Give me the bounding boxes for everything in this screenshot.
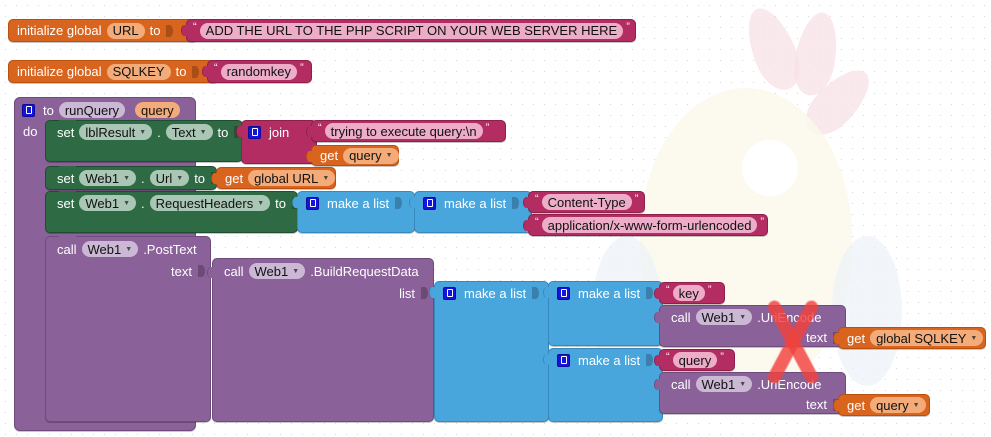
chevron-down-icon: ▼ [386,152,393,159]
key-string-field[interactable]: key [673,285,705,301]
left-plug [543,287,550,298]
text-socket-label: text [168,265,195,278]
global-url-name-field[interactable]: URL [107,23,145,39]
method-name: .PostText [140,243,199,256]
chevron-down-icon: ▼ [123,200,130,207]
initialize-global-url-block[interactable]: initialize global URL to [8,19,198,42]
set-keyword: set [54,197,77,210]
close-quote-icon: ” [625,22,631,33]
get-global-url-block[interactable]: get global URL ▼ [216,167,336,189]
variable-dropdown-query[interactable]: query ▼ [343,148,398,164]
item-socket [532,287,539,299]
close-quote-icon: ” [634,194,640,205]
set-keyword: set [54,172,77,185]
procedure-parameter-field[interactable]: query [135,102,180,118]
property-dropdown-url[interactable]: Url ▼ [150,170,190,186]
left-plug [409,197,416,208]
chevron-down-icon: ▼ [257,200,264,207]
mutator-icon[interactable] [248,126,261,139]
component-dropdown-web1[interactable]: Web1 ▼ [79,195,136,211]
left-plug [202,66,209,77]
get-keyword: get [844,332,868,345]
mutator-icon[interactable] [443,287,456,300]
chevron-down-icon: ▼ [739,314,746,321]
call-web1-posttext-block[interactable]: call Web1 ▼ .PostText text [45,236,211,422]
left-plug [654,355,661,366]
dot-separator: . [138,172,148,185]
left-plug [429,287,436,298]
text-socket-label: text [803,331,830,344]
left-plug [833,400,840,411]
open-quote-icon: “ [213,63,219,74]
mutator-icon[interactable] [557,354,570,367]
to-keyword: to [173,65,190,78]
left-plug [654,312,661,323]
to-keyword: to [272,197,289,210]
left-plug [654,288,661,299]
get-keyword: get [844,399,868,412]
chevron-down-icon: ▼ [176,175,183,182]
set-web1-requestheaders-block[interactable]: set Web1 ▼ . RequestHeaders ▼ to [45,191,298,233]
mutator-icon[interactable] [22,104,35,117]
close-quote-icon: ” [485,123,491,134]
call-keyword: call [54,243,80,256]
make-a-list-label: make a list [441,197,509,210]
make-a-list-label: make a list [461,287,529,300]
make-a-list-label: make a list [575,287,643,300]
call-keyword: call [668,378,694,391]
watermark-petal-1 [737,1,808,96]
do-label: do [23,125,37,138]
variable-dropdown-query[interactable]: query ▼ [870,397,925,413]
component-dropdown-lblresult[interactable]: lblResult ▼ [79,124,152,140]
open-quote-icon: “ [534,217,540,228]
set-web1-url-block[interactable]: set Web1 ▼ . Url ▼ to [45,166,217,190]
watermark-petal-2 [789,9,843,99]
call-web1-uriencode-block-2[interactable]: call Web1 ▼ .UriEncode text [659,372,846,414]
left-plug [211,173,218,184]
left-plug [207,267,214,278]
call-web1-uriencode-block-1[interactable]: call Web1 ▼ .UriEncode text [659,305,846,347]
mutator-icon[interactable] [306,197,319,210]
chevron-down-icon: ▼ [123,175,130,182]
make-a-list-pair-1[interactable]: make a list [548,281,663,346]
open-quote-icon: “ [665,285,671,296]
watermark-bee-eye [742,140,798,196]
method-name: .UriEncode [754,378,824,391]
set-lblresult-text-block[interactable]: set lblResult ▼ . Text ▼ to [45,120,243,162]
value-socket [166,25,173,37]
close-quote-icon: ” [707,285,713,296]
url-string-field[interactable]: ADD THE URL TO THE PHP SCRIPT ON YOUR WE… [200,23,624,39]
component-dropdown-web1[interactable]: Web1 ▼ [249,263,306,279]
join-arg1-text-block[interactable]: “ trying to execute query:\n ” [311,120,506,142]
property-dropdown-text[interactable]: Text ▼ [166,124,213,140]
mutator-icon[interactable] [423,197,436,210]
left-plug [654,379,661,390]
to-keyword: to [191,172,208,185]
get-query-block[interactable]: get query ▼ [311,145,399,166]
dot-separator: . [154,126,164,139]
left-plug [523,220,530,231]
text-block-url-value[interactable]: “ ADD THE URL TO THE PHP SCRIPT ON YOUR … [186,19,636,42]
chevron-down-icon: ▼ [322,175,329,182]
sqlkey-string-field[interactable]: randomkey [221,64,297,80]
set-keyword: set [54,126,77,139]
text-socket-label: text [803,398,830,411]
make-a-list-label: make a list [324,197,392,210]
left-plug [523,197,530,208]
make-a-list-outer-pairs[interactable]: make a list [434,281,549,422]
left-plug [306,151,313,162]
component-dropdown-web1[interactable]: Web1 ▼ [696,376,753,392]
make-a-list-inner-headers[interactable]: make a list [414,191,532,233]
open-quote-icon: “ [665,352,671,363]
chevron-down-icon: ▼ [913,402,920,409]
procedure-name-field[interactable]: runQuery [59,102,125,118]
watermark-petal-3 [796,59,880,144]
open-quote-icon: “ [192,22,198,33]
query-string-field[interactable]: query [673,352,718,368]
chevron-down-icon: ▼ [200,129,207,136]
left-plug [181,25,188,36]
list-socket-label: list [396,287,418,300]
method-name: .UriEncode [754,311,824,324]
item-socket [646,287,653,299]
close-quote-icon: ” [719,352,725,363]
chevron-down-icon: ▼ [139,129,146,136]
property-dropdown-requestheaders[interactable]: RequestHeaders ▼ [150,195,271,211]
component-dropdown-web1[interactable]: Web1 ▼ [696,309,753,325]
chevron-down-icon: ▼ [739,381,746,388]
get-query-block-2[interactable]: get query ▼ [838,394,930,416]
left-plug [236,126,243,137]
content-type-name-field[interactable]: Content-Type [542,194,632,210]
close-quote-icon: ” [299,63,305,74]
to-keyword: to [40,104,57,117]
value-socket [192,66,199,78]
text-socket [198,265,205,277]
text-block-content-type-name[interactable]: “ Content-Type ” [528,191,645,213]
dot-separator: . [138,197,148,210]
list-socket [421,287,428,299]
method-name: .BuildRequestData [307,265,421,278]
to-keyword: to [147,24,164,37]
make-a-list-outer-headers[interactable]: make a list [297,191,415,233]
left-plug [292,197,299,208]
text-block-query[interactable]: “ query ” [659,349,735,371]
left-plug [543,354,550,365]
text-block-sqlkey-value[interactable]: “ randomkey ” [207,60,312,83]
item-socket [512,197,519,209]
join-label: join [266,126,292,139]
initialize-global-sqlkey-block[interactable]: initialize global SQLKEY to [8,60,219,83]
call-keyword: call [221,265,247,278]
variable-dropdown-global-sqlkey[interactable]: global SQLKEY ▼ [870,330,983,346]
make-a-list-label: make a list [575,354,643,367]
component-dropdown-web1[interactable]: Web1 ▼ [82,241,139,257]
get-global-sqlkey-block[interactable]: get global SQLKEY ▼ [838,327,986,349]
variable-dropdown-global-url[interactable]: global URL ▼ [248,170,335,186]
chevron-down-icon: ▼ [292,268,299,275]
initialize-global-keyword: initialize global [14,24,105,37]
global-sqlkey-name-field[interactable]: SQLKEY [107,64,171,80]
left-plug [306,126,313,137]
text-block-key[interactable]: “ key ” [659,282,725,304]
content-type-value-field[interactable]: application/x-www-form-urlencoded [542,217,758,233]
initialize-global-keyword: initialize global [14,65,105,78]
get-keyword: get [317,149,341,162]
mutator-icon[interactable] [557,287,570,300]
close-quote-icon: ” [759,217,765,228]
chevron-down-icon: ▼ [125,246,132,253]
call-web1-buildrequestdata-block[interactable]: call Web1 ▼ .BuildRequestData list [212,258,434,422]
open-quote-icon: “ [317,123,323,134]
join-text-field[interactable]: trying to execute query:\n [325,123,483,139]
get-keyword: get [222,172,246,185]
to-keyword: to [215,126,232,139]
text-block-content-type-value[interactable]: “ application/x-www-form-urlencoded ” [528,214,768,236]
component-dropdown-web1[interactable]: Web1 ▼ [79,170,136,186]
open-quote-icon: “ [534,194,540,205]
blocks-editor-canvas[interactable]: initialize global URL to “ ADD THE URL T… [0,0,991,437]
chevron-down-icon: ▼ [970,335,977,342]
item-socket [646,354,653,366]
call-keyword: call [668,311,694,324]
left-plug [833,333,840,344]
item-socket [395,197,402,209]
make-a-list-pair-2[interactable]: make a list [548,348,663,422]
